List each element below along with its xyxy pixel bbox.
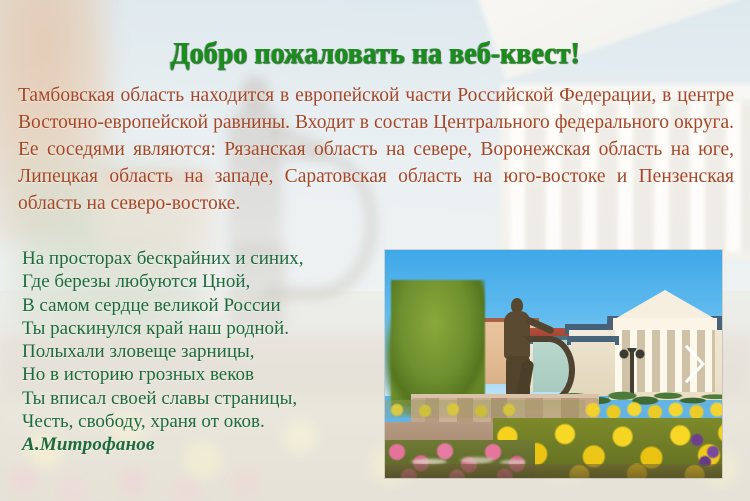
chevron-right-icon[interactable] (682, 342, 708, 386)
photo-purple-flowers (685, 426, 722, 466)
presentation-slide: Добро пожаловать на веб-квест! Тамбовска… (0, 0, 750, 501)
poem-line: Честь, свободу, храня от оков. (22, 410, 372, 433)
slide-content: Добро пожаловать на веб-квест! Тамбовска… (0, 0, 750, 501)
intro-paragraph: Тамбовская область находится в европейск… (18, 82, 734, 218)
photo-grass-strip (385, 400, 585, 418)
page-title: Добро пожаловать на веб-квест! (38, 37, 713, 70)
poem-line: Где березы любуются Цной, (22, 270, 372, 293)
poem-line: В самом сердце великой России (22, 294, 372, 317)
poem-block: На просторах бескрайних и синих, Где бер… (22, 247, 372, 457)
poem-author: А.Митрофанов (22, 433, 372, 456)
poem-line: Но в историю грозных веков (22, 363, 372, 386)
tambov-photo[interactable] (385, 250, 722, 478)
poem-line: На просторах бескрайних и синих, (22, 247, 372, 270)
poem-line: Ты вписал своей славы страницы, (22, 387, 372, 410)
poem-line: Полыхали зловеще зарницы, (22, 340, 372, 363)
photo-yellow-flower-strip (581, 400, 722, 420)
photo-bottom-edge (385, 464, 722, 478)
poem-line: Ты раскинулся край наш родной. (22, 317, 372, 340)
photo-main-building-pediment (613, 290, 717, 320)
photo-big-tree (391, 280, 485, 406)
